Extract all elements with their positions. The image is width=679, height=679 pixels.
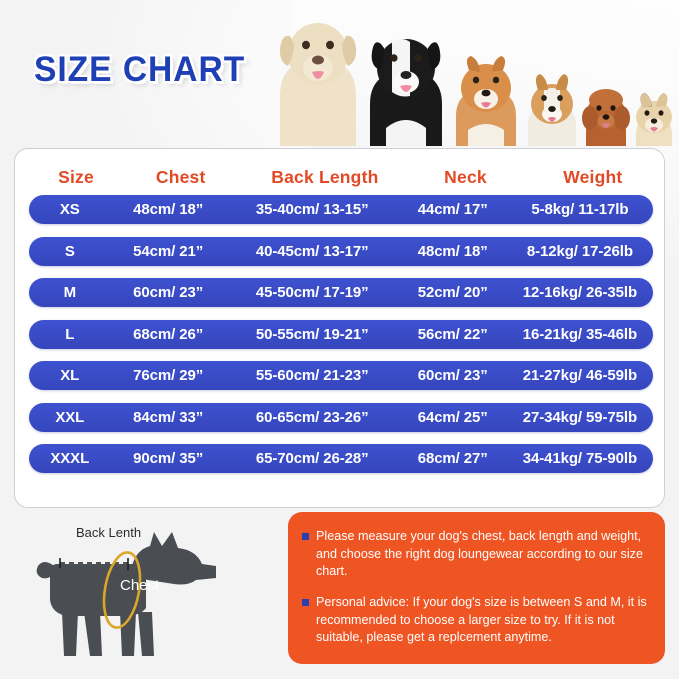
column-header-size: Size [29,167,123,188]
cell-back-length: 45-50cm/ 17-19” [226,284,399,301]
cell-size: M [29,284,111,301]
measurement-notice-box: Please measure your dog's chest, back le… [288,512,665,664]
cell-chest: 84cm/ 33” [111,409,226,426]
cell-size: XXL [29,409,111,426]
dog-shiba-inu [456,56,516,146]
table-row: S 54cm/ 21” 40-45cm/ 13-17” 48cm/ 18” 8-… [29,237,653,266]
dog-silhouette-icon [20,520,270,670]
size-chart-page: SIZE CHART Size Chest Back Length Neck W… [0,0,679,679]
notice-text: Please measure your dog's chest, back le… [316,528,647,581]
notice-item: Please measure your dog's chest, back le… [302,528,647,581]
cell-weight: 16-21kg/ 35-46lb [507,326,653,343]
table-header-row: Size Chest Back Length Neck Weight [15,161,666,193]
dog-corgi [528,74,576,146]
cell-back-length: 55-60cm/ 21-23” [226,367,399,384]
dog-group-illustration [250,0,679,146]
column-header-weight: Weight [520,167,666,188]
cell-chest: 48cm/ 18” [111,201,226,218]
cell-size: S [29,243,111,260]
cell-neck: 56cm/ 22” [399,326,507,343]
page-title: SIZE CHART [34,50,245,90]
cell-neck: 68cm/ 27” [399,450,507,467]
hero-banner: SIZE CHART [0,0,679,150]
dog-toy-poodle [582,89,630,146]
cell-size: L [29,326,111,343]
cell-back-length: 65-70cm/ 26-28” [226,450,399,467]
cell-weight: 27-34kg/ 59-75lb [507,409,653,426]
cell-chest: 60cm/ 23” [111,284,226,301]
cell-neck: 52cm/ 20” [399,284,507,301]
table-row: L 68cm/ 26” 50-55cm/ 19-21” 56cm/ 22” 16… [29,320,653,349]
dog-border-collie [370,39,442,146]
table-row: XL 76cm/ 29” 55-60cm/ 21-23” 60cm/ 23” 2… [29,361,653,390]
cell-size: XS [29,201,111,218]
cell-weight: 8-12kg/ 17-26lb [507,243,653,260]
bullet-square-icon [302,533,309,540]
cell-size: XXXL [29,450,111,467]
measurement-diagram: Back Lenth Chest [20,520,270,670]
cell-neck: 60cm/ 23” [399,367,507,384]
table-row: XS 48cm/ 18” 35-40cm/ 13-15” 44cm/ 17” 5… [29,195,653,224]
cell-back-length: 50-55cm/ 19-21” [226,326,399,343]
dog-pomeranian [636,93,672,146]
cell-weight: 5-8kg/ 11-17lb [507,201,653,218]
column-header-neck: Neck [411,167,519,188]
notice-text: Personal advice: If your dog's size is b… [316,594,647,647]
cell-back-length: 60-65cm/ 23-26” [226,409,399,426]
dog-photo-row [250,0,679,146]
cell-chest: 68cm/ 26” [111,326,226,343]
column-header-back-length: Back Length [238,167,411,188]
cell-size: XL [29,367,111,384]
cell-back-length: 40-45cm/ 13-17” [226,243,399,260]
chest-label: Chest [120,577,159,594]
cell-chest: 76cm/ 29” [111,367,226,384]
table-row: XXXL 90cm/ 35” 65-70cm/ 26-28” 68cm/ 27”… [29,444,653,473]
cell-chest: 90cm/ 35” [111,450,226,467]
cell-neck: 44cm/ 17” [399,201,507,218]
column-header-chest: Chest [123,167,238,188]
cell-weight: 21-27kg/ 46-59lb [507,367,653,384]
table-row: XXL 84cm/ 33” 60-65cm/ 23-26” 64cm/ 25” … [29,403,653,432]
notice-item: Personal advice: If your dog's size is b… [302,594,647,647]
cell-weight: 34-41kg/ 75-90lb [507,450,653,467]
table-body: XS 48cm/ 18” 35-40cm/ 13-15” 44cm/ 17” 5… [29,195,653,486]
cell-back-length: 35-40cm/ 13-15” [226,201,399,218]
table-row: M 60cm/ 23” 45-50cm/ 17-19” 52cm/ 20” 12… [29,278,653,307]
back-length-label: Back Lenth [76,525,141,540]
cell-chest: 54cm/ 21” [111,243,226,260]
dog-labrador-retriever [280,23,356,146]
cell-neck: 48cm/ 18” [399,243,507,260]
bullet-square-icon [302,599,309,606]
cell-neck: 64cm/ 25” [399,409,507,426]
size-table-card: Size Chest Back Length Neck Weight XS 48… [14,148,665,508]
cell-weight: 12-16kg/ 26-35lb [507,284,653,301]
